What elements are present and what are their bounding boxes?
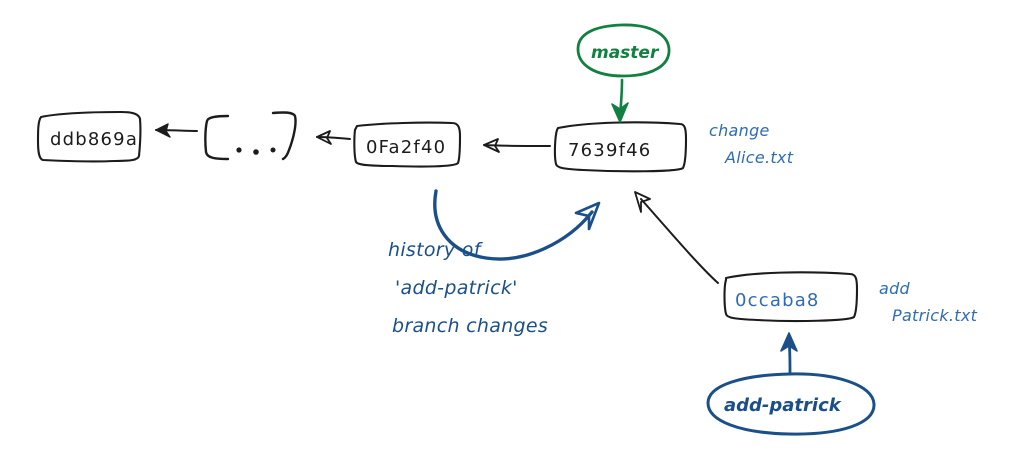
branch-label-text: add-patrick [724,395,842,416]
commit-node-ddb869a[interactable]: ddb869a [38,112,140,161]
open-bracket [205,116,228,159]
annotation-add-patrick-txt: add Patrick.txt [879,279,978,325]
ellipsis-dot [236,147,241,152]
branch-label-master[interactable]: master [578,25,669,122]
close-bracket [273,112,296,159]
ellipsis-dot [253,149,259,155]
branch-label-add-patrick[interactable]: add-patrick [708,333,874,434]
commit-label: 0ccaba8 [735,290,820,311]
commit-node-7639f46[interactable]: 7639f46 [555,122,686,171]
annotation-line: 'add-patrick' [395,277,518,299]
arrow-0Fa2f40-to-elided [317,131,350,144]
arrow-7639f46-to-0Fa2f40 [484,139,550,152]
annotation-line: Alice.txt [724,148,794,167]
arrow-elided-to-ddb869a [156,124,197,137]
annotation-line: Patrick.txt [892,306,978,325]
annotation-line: branch changes [392,315,548,337]
commit-label: ddb869a [50,129,138,150]
commit-label: 0Fa2f40 [366,137,446,158]
sketch-layer: ddb869a 0Fa2f40 [0,0,1024,451]
annotation-history-note: history of 'add-patrick' branch changes [388,239,548,337]
annotation-line: change [709,121,770,140]
commit-label: 7639f46 [568,140,651,161]
commit-node-0Fa2f40[interactable]: 0Fa2f40 [354,123,460,167]
annotation-line: history of [388,239,484,261]
elided-commits-group [205,112,295,159]
arrow-0ccaba8-to-7639f46 [635,192,718,283]
annotation-line: add [879,279,911,298]
diagram-canvas: ddb869a 0Fa2f40 [0,0,1024,451]
annotation-change-alice: change Alice.txt [709,121,794,167]
commit-node-0ccaba8[interactable]: 0ccaba8 [725,272,858,321]
add-patrick-pointer-arrow [781,333,797,373]
master-pointer-arrow [612,80,628,122]
ellipsis-dot [271,148,276,153]
branch-label-text: master [591,43,660,63]
